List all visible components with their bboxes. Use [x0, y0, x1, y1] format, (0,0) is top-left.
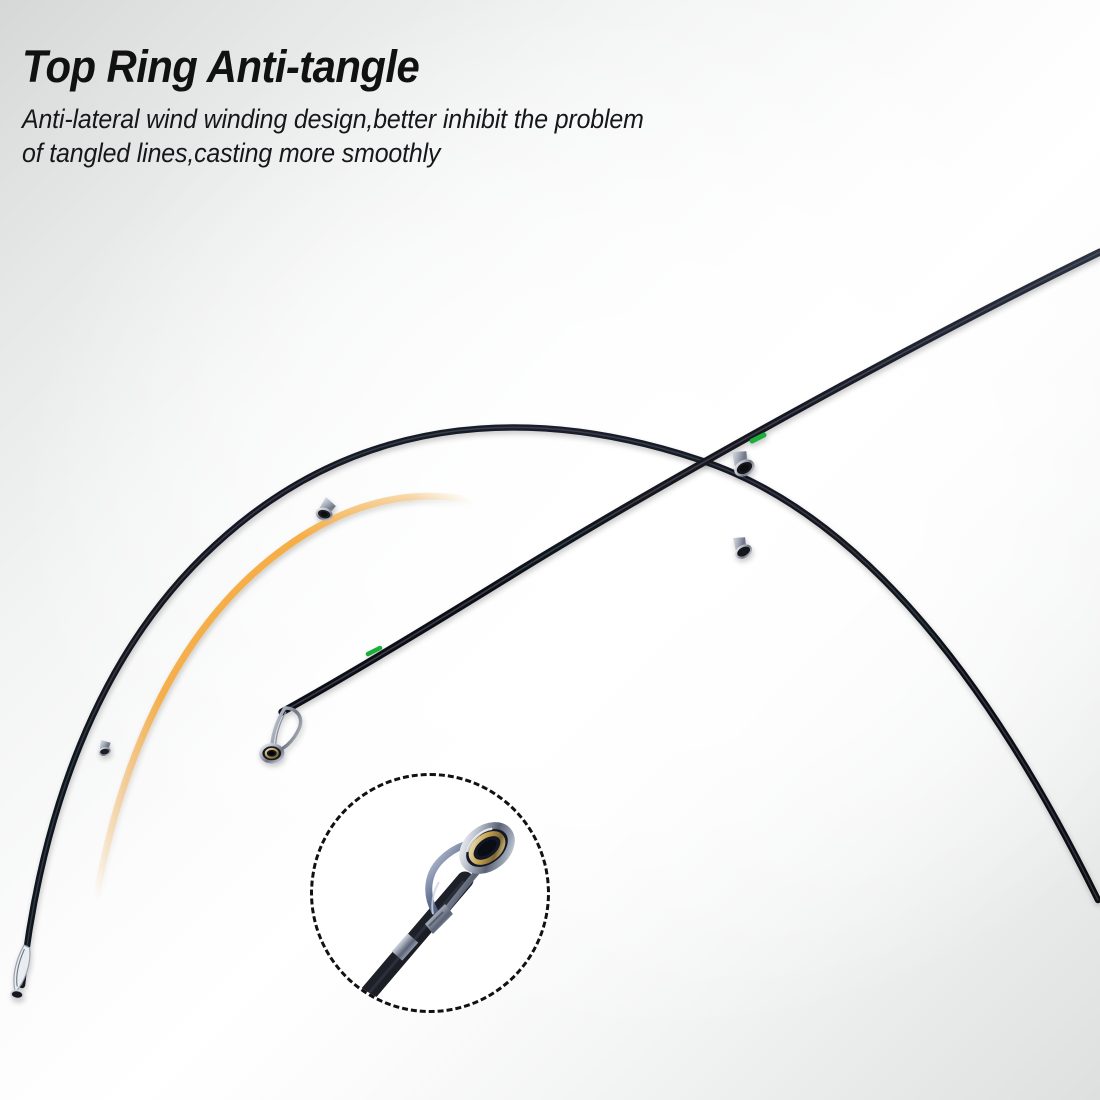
top-ring-detail-illustration [313, 776, 550, 1013]
top-ring-detail-callout [310, 773, 550, 1013]
copy-block: Top Ring Anti-tangle Anti-lateral wind w… [22, 44, 962, 171]
rod-guide-upper-b [729, 533, 754, 560]
lower-rod-blank [22, 427, 1098, 985]
rod-tip-guide-lower [11, 944, 32, 999]
subtitle-line-2: of tangled lines,casting more smoothly [22, 137, 906, 171]
subtitle: Anti-lateral wind winding design,better … [22, 103, 906, 171]
rod-guide-lower-b [98, 739, 112, 756]
product-feature-banner: Top Ring Anti-tangle Anti-lateral wind w… [0, 0, 1100, 1100]
subtitle-line-1: Anti-lateral wind winding design,better … [22, 103, 906, 137]
upper-straight-rod [244, 252, 1100, 771]
lower-rod-sheen [22, 427, 1098, 985]
detail-top-ring [454, 816, 520, 879]
upper-rod-blank [282, 252, 1100, 712]
page-title: Top Ring Anti-tangle [22, 44, 896, 89]
lower-curved-rod [11, 427, 1098, 999]
